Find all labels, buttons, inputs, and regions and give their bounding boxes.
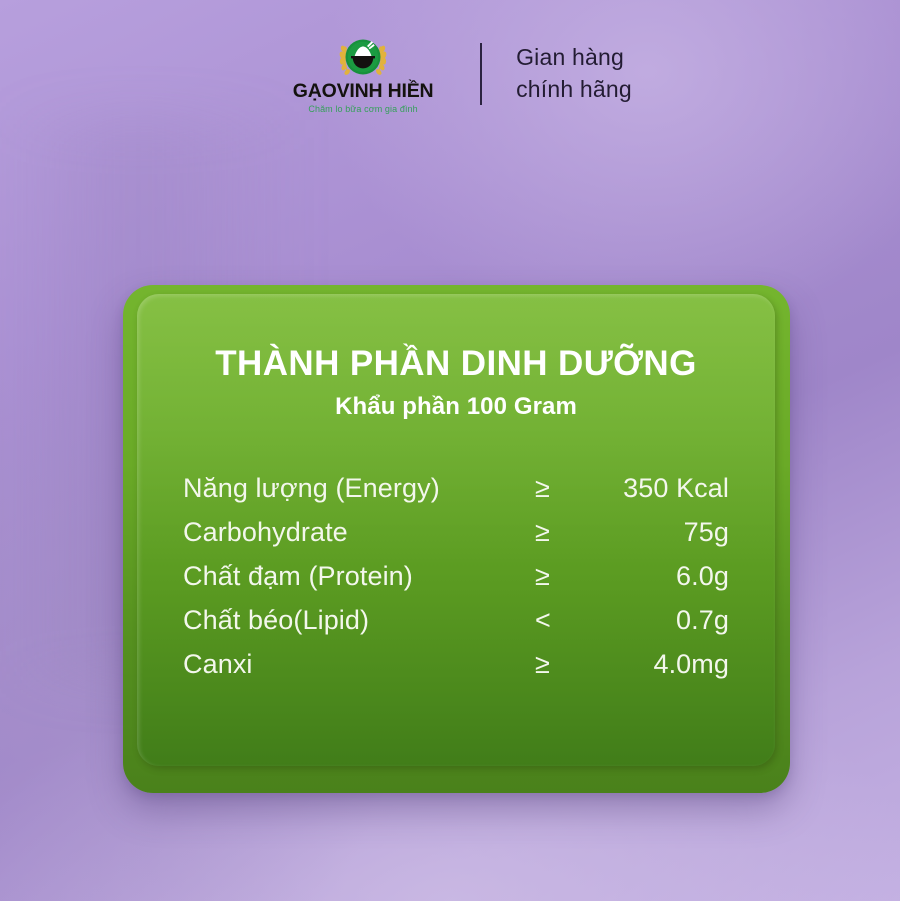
card-subtitle: Khẩu phần 100 Gram [173,394,739,420]
brand-name-vinhhien: VINH HIỀN [337,80,434,102]
nutrient-label: Chất đạm (Protein) [183,554,535,598]
card-title: THÀNH PHẦN DINH DƯỠNG [173,346,739,383]
nutrient-comparison-operator: < [535,598,579,642]
nutrient-label: Chất béo(Lipid) [183,598,535,642]
nutrient-value: 0.7g [579,598,729,642]
nutrient-value: 6.0g [579,554,729,598]
nutrient-value: 4.0mg [579,642,729,686]
brand-name-gao: GẠO [293,80,337,102]
nutrient-comparison-operator: ≥ [535,510,579,554]
poster-canvas: GẠOVINH HIỀN Chăm lo bữa cơm gia đình Gi… [0,0,900,901]
nutrition-row: Năng lượng (Energy)≥350 Kcal [183,466,729,510]
nutrient-label: Năng lượng (Energy) [183,466,535,510]
nutrition-table-body: Năng lượng (Energy)≥350 KcalCarbohydrate… [183,466,729,686]
nutrient-label: Carbohydrate [183,510,535,554]
slogan-line-1: Gian hàng [516,42,632,74]
nutrient-label: Canxi [183,642,535,686]
brand-logo[interactable]: GẠOVINH HIỀN Chăm lo bữa cơm gia đình [268,34,458,114]
nutrition-row: Carbohydrate≥75g [183,510,729,554]
nutrient-comparison-operator: ≥ [535,554,579,598]
header-divider [480,43,482,105]
official-store-slogan: Gian hàng chính hãng [516,42,632,105]
nutrient-value: 75g [579,510,729,554]
nutrition-table: Năng lượng (Energy)≥350 KcalCarbohydrate… [183,466,729,686]
slogan-line-2: chính hãng [516,74,632,106]
brand-header: GẠOVINH HIỀN Chăm lo bữa cơm gia đình Gi… [0,34,900,114]
nutrient-comparison-operator: ≥ [535,642,579,686]
rice-bowl-wreath-icon [332,34,394,80]
nutrition-row: Chất béo(Lipid)<0.7g [183,598,729,642]
nutrient-value: 350 Kcal [579,466,729,510]
brand-name: GẠOVINH HIỀN [293,82,434,102]
nutrition-row: Chất đạm (Protein)≥6.0g [183,554,729,598]
nutrition-card: THÀNH PHẦN DINH DƯỠNG Khẩu phần 100 Gram… [123,285,790,793]
nutrition-row: Canxi≥4.0mg [183,642,729,686]
brand-tagline: Chăm lo bữa cơm gia đình [308,105,417,114]
nutrient-comparison-operator: ≥ [535,466,579,510]
nutrition-card-face: THÀNH PHẦN DINH DƯỠNG Khẩu phần 100 Gram… [137,294,775,766]
